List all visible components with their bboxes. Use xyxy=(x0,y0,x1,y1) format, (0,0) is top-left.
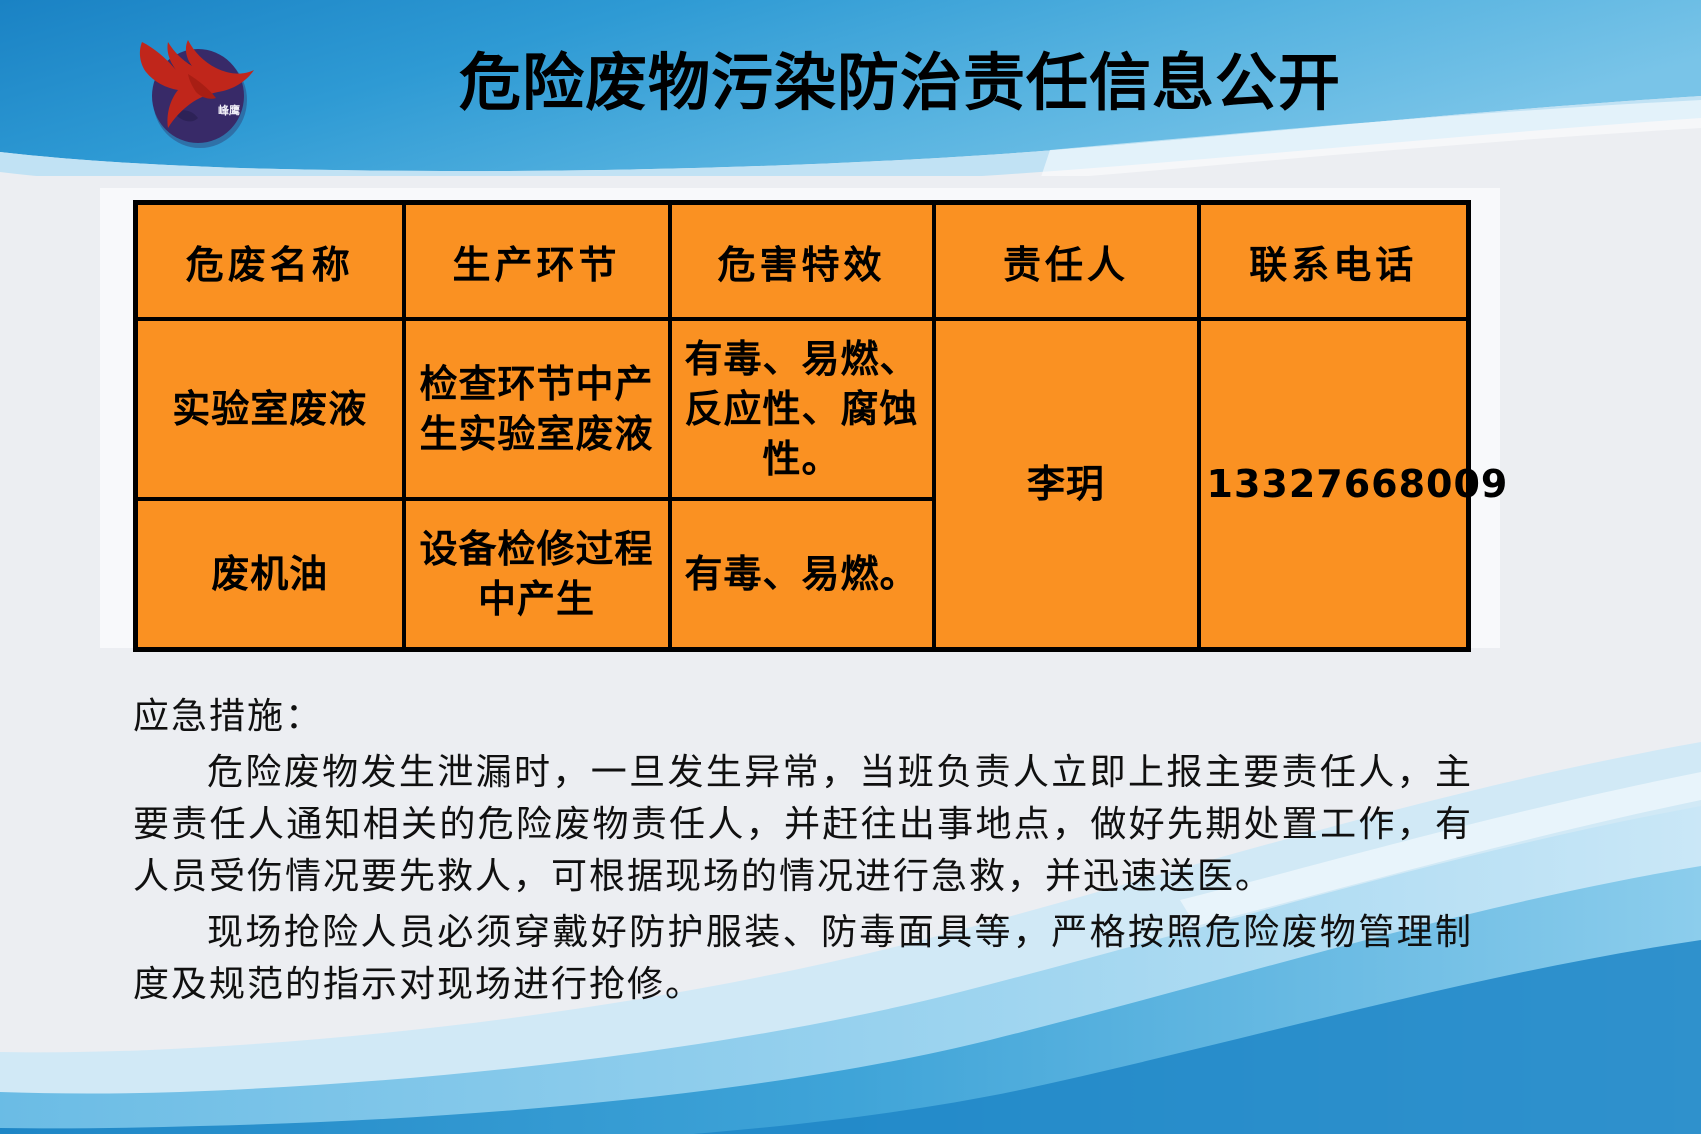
slide-header: 峰鹰 危险废物污染防治责任信息公开 xyxy=(0,0,1701,168)
hazardous-waste-table: 危废名称 生产环节 危害特效 责任人 联系电话 实验室废液 检查环节中产生实验室… xyxy=(133,200,1471,652)
header-responsible-person: 责任人 xyxy=(934,203,1199,320)
emergency-measures-section: 应急措施： 危险废物发生泄漏时，一旦发生异常，当班负责人立即上报主要责任人，主要… xyxy=(133,690,1473,1014)
cell-contact-phone: 13327668009 xyxy=(1199,319,1469,650)
table-row: 实验室废液 检查环节中产生实验室废液 有毒、易燃、反应性、腐蚀性。 李玥 133… xyxy=(136,319,1469,499)
eagle-globe-logo-icon: 峰鹰 xyxy=(112,18,282,153)
cell-hazard-2: 有毒、易燃。 xyxy=(670,499,934,650)
cell-hazard-1: 有毒、易燃、反应性、腐蚀性。 xyxy=(670,319,934,499)
cell-stage-2: 设备检修过程中产生 xyxy=(404,499,670,650)
emergency-paragraph-1: 危险废物发生泄漏时，一旦发生异常，当班负责人立即上报主要责任人，主要责任人通知相… xyxy=(133,746,1473,902)
slide-canvas: 峰鹰 危险废物污染防治责任信息公开 危废名称 生产环节 危害特效 责任人 联系电… xyxy=(0,0,1701,1134)
header-contact-phone: 联系电话 xyxy=(1199,203,1469,320)
header-production-stage: 生产环节 xyxy=(404,203,670,320)
emergency-paragraph-2: 现场抢险人员必须穿戴好防护服装、防毒面具等，严格按照危险废物管理制度及规范的指示… xyxy=(133,906,1473,1010)
cell-waste-name-2: 废机油 xyxy=(136,499,404,650)
table-header-row: 危废名称 生产环节 危害特效 责任人 联系电话 xyxy=(136,203,1469,320)
cell-stage-1: 检查环节中产生实验室废液 xyxy=(404,319,670,499)
cell-responsible-person: 李玥 xyxy=(934,319,1199,650)
header-waste-name: 危废名称 xyxy=(136,203,404,320)
hazardous-waste-table-wrapper: 危废名称 生产环节 危害特效 责任人 联系电话 实验室废液 检查环节中产生实验室… xyxy=(133,200,1466,652)
svg-text:峰鹰: 峰鹰 xyxy=(218,103,240,117)
page-title: 危险废物污染防治责任信息公开 xyxy=(430,48,1370,118)
cell-waste-name-1: 实验室废液 xyxy=(136,319,404,499)
emergency-heading: 应急措施： xyxy=(133,690,1473,742)
header-hazard-effect: 危害特效 xyxy=(670,203,934,320)
